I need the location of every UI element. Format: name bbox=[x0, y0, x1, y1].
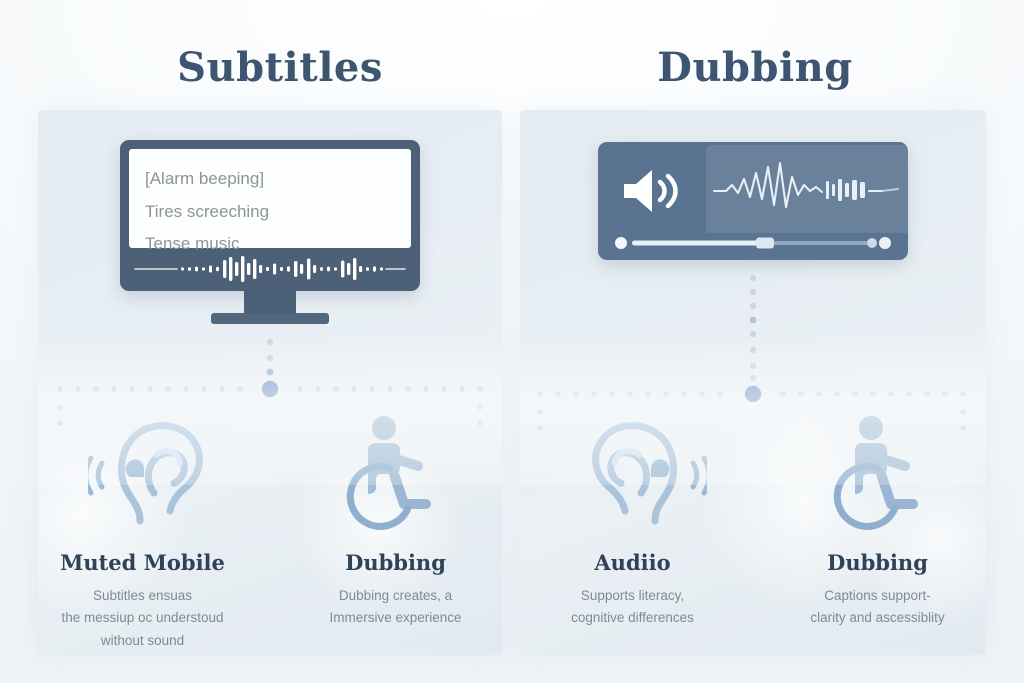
wheelchair-accessibility-icon bbox=[805, 412, 955, 530]
caption-block: Dubbing Dubbing creates, a Immersive exp… bbox=[283, 550, 502, 630]
caption-block: Dubbing Captions support- clarity and as… bbox=[765, 550, 986, 630]
caption-line: Tires screeching bbox=[145, 196, 395, 229]
infographic-canvas: Subtitles Dubbing [Alarm beeping] Tires … bbox=[0, 0, 1024, 683]
playback-progress-bar[interactable] bbox=[614, 234, 894, 252]
caption-block: Muted Mobile Subtitles ensuas the messiu… bbox=[38, 550, 255, 652]
caption-block: Audiio Supports literacy, cognitive diff… bbox=[520, 550, 745, 630]
icon-slot bbox=[568, 415, 718, 533]
speaker-volume-icon[interactable] bbox=[620, 164, 694, 218]
monitor-screen: [Alarm beeping] Tires screeching Tense m… bbox=[129, 149, 411, 248]
icon-slot bbox=[77, 415, 227, 533]
audio-player[interactable] bbox=[598, 142, 908, 260]
caption-text-line: without sound bbox=[38, 630, 255, 652]
audio-waveform-icon bbox=[706, 145, 908, 233]
caption-title: Dubbing bbox=[765, 550, 986, 575]
caption-text-line: Supports literacy, bbox=[520, 585, 745, 607]
caption-text-line: clarity and ascessiblity bbox=[765, 607, 986, 629]
column-heading-right: Dubbing bbox=[520, 44, 990, 91]
connector-hub-dot bbox=[262, 381, 278, 397]
connector-hub-dot bbox=[745, 386, 761, 402]
caption-title: Dubbing bbox=[283, 550, 502, 575]
caption-text-line: the messiup oc understoud bbox=[38, 607, 255, 629]
monitor-bezel: [Alarm beeping] Tires screeching Tense m… bbox=[120, 140, 420, 291]
caption-text-line: Dubbing creates, a bbox=[283, 585, 502, 607]
caption-text-line: Subtitles ensuas bbox=[38, 585, 255, 607]
caption-line: [Alarm beeping] bbox=[145, 163, 395, 196]
caption-text-line: Immersive experience bbox=[283, 607, 502, 629]
caption-text-line: Captions support- bbox=[765, 585, 986, 607]
ear-hearing-icon bbox=[77, 415, 227, 533]
caption-text-line: cognitive differences bbox=[520, 607, 745, 629]
monitor-base bbox=[211, 313, 329, 324]
icon-slot bbox=[318, 412, 468, 530]
panel-subtitles: [Alarm beeping] Tires screeching Tense m… bbox=[38, 110, 502, 655]
panel-dubbing: Audiio Supports literacy, cognitive diff… bbox=[520, 110, 986, 655]
monitor-device: [Alarm beeping] Tires screeching Tense m… bbox=[120, 140, 420, 324]
caption-title: Audiio bbox=[520, 550, 745, 575]
audio-waveform-icon bbox=[129, 248, 411, 291]
ear-hearing-icon bbox=[568, 415, 718, 533]
icon-slot bbox=[805, 412, 955, 530]
caption-title: Muted Mobile bbox=[38, 550, 255, 575]
wheelchair-accessibility-icon bbox=[318, 412, 468, 530]
column-heading-left: Subtitles bbox=[40, 44, 520, 91]
monitor-neck bbox=[244, 291, 296, 313]
